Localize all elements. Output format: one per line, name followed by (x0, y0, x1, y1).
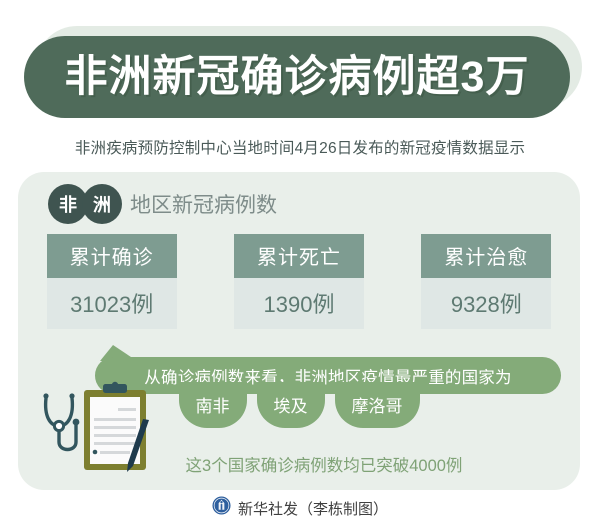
stethoscope-earpiece-right (69, 393, 74, 398)
stat-label: 累计治愈 (421, 234, 551, 278)
stats-row: 累计确诊 31023例 累计死亡 1390例 累计治愈 9328例 (18, 234, 580, 329)
stat-card-confirmed: 累计确诊 31023例 (47, 234, 177, 329)
country-badge: 南非 (179, 382, 247, 428)
subtitle-text: 非洲疾病预防控制中心当地时间4月26日发布的新冠疫情数据显示 (0, 136, 600, 158)
region-header-label: 地区新冠病例数 (130, 189, 277, 219)
footer: 新华社发（李栋制图） (0, 496, 600, 520)
stat-value: 9328例 (421, 278, 551, 329)
xinhua-logo-icon (212, 496, 231, 520)
stat-label: 累计死亡 (234, 234, 364, 278)
clipboard-icon (84, 382, 146, 470)
clipboard-bullet (93, 450, 98, 455)
title-banner: 非洲新冠确诊病例超3万 (0, 0, 600, 128)
country-badge: 摩洛哥 (335, 382, 420, 428)
stat-label: 累计确诊 (47, 234, 177, 278)
stat-card-recovered: 累计治愈 9328例 (421, 234, 551, 329)
title-pill: 非洲新冠确诊病例超3万 (24, 36, 570, 118)
stat-value: 31023例 (47, 278, 177, 329)
page-title: 非洲新冠确诊病例超3万 (65, 56, 530, 99)
stethoscope-earpiece-left (43, 393, 48, 398)
region-badge-group: 非 洲 (48, 184, 122, 224)
medical-illustration (30, 380, 170, 480)
country-badge: 埃及 (257, 382, 325, 428)
stat-value: 1390例 (234, 278, 364, 329)
stethoscope-chestpiece (54, 421, 63, 430)
main-panel: 非 洲 地区新冠病例数 累计确诊 31023例 累计死亡 1390例 累计治愈 … (18, 172, 580, 490)
region-header: 非 洲 地区新冠病例数 (48, 182, 277, 226)
region-badge-2: 洲 (82, 184, 122, 224)
stat-card-deaths: 累计死亡 1390例 (234, 234, 364, 329)
stethoscope-tip (73, 419, 80, 426)
footer-credit: 新华社发（李栋制图） (238, 498, 388, 519)
